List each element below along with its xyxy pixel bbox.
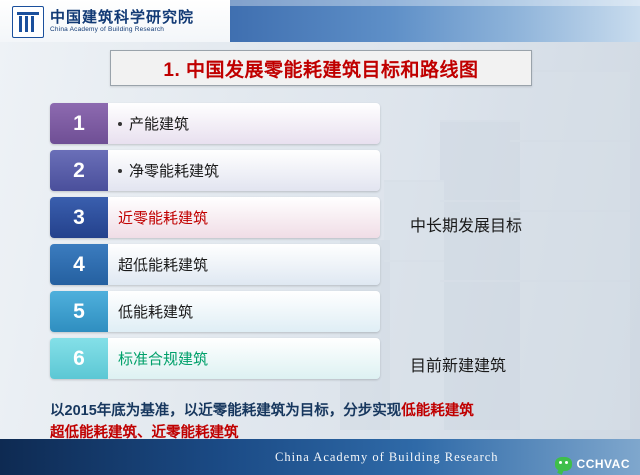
list-item-label: 超低能耗建筑 bbox=[118, 254, 208, 275]
list-item-number: 3 bbox=[50, 197, 108, 238]
list-item-number: 5 bbox=[50, 291, 108, 332]
list-item-number: 2 bbox=[50, 150, 108, 191]
list-item-body: 净零能耗建筑 bbox=[108, 150, 380, 191]
list-item: 3 近零能耗建筑 bbox=[50, 197, 380, 238]
slide-header: 中国建筑科学研究院 China Academy of Building Rese… bbox=[0, 0, 640, 42]
list-item: 1 产能建筑 bbox=[50, 103, 380, 144]
list-item: 6 标准合规建筑 bbox=[50, 338, 380, 379]
organization-name-en: China Academy of Building Research bbox=[50, 27, 194, 34]
annotation-current-new-buildings: 目前新建建筑 bbox=[410, 352, 506, 376]
list-item-label: 标准合规建筑 bbox=[118, 348, 208, 369]
page-title: 1. 中国发展零能耗建筑目标和路线图 bbox=[110, 50, 532, 86]
summary-line1-highlight: 低能耗建筑 bbox=[401, 403, 474, 419]
bullet-icon bbox=[118, 122, 122, 126]
wechat-label: CCHVAC bbox=[577, 457, 630, 471]
list-item-number: 6 bbox=[50, 338, 108, 379]
wechat-account: CCHVAC bbox=[555, 457, 630, 471]
list-item-number: 4 bbox=[50, 244, 108, 285]
list-item-body: 近零能耗建筑 bbox=[108, 197, 380, 238]
list-item-body: 产能建筑 bbox=[108, 103, 380, 144]
list-item: 5 低能耗建筑 bbox=[50, 291, 380, 332]
list-item-label: 近零能耗建筑 bbox=[118, 207, 208, 228]
slide-footer: China Academy of Building Research CCHVA… bbox=[0, 439, 640, 475]
header-blue-stripe bbox=[230, 0, 640, 42]
summary-line1-part1: 以2015年底为基准，以近零能耗建筑为目标，分步实现 bbox=[50, 403, 401, 419]
wechat-icon bbox=[555, 457, 572, 471]
list-item-label: 净零能耗建筑 bbox=[129, 160, 219, 181]
organization-logo: 中国建筑科学研究院 China Academy of Building Rese… bbox=[12, 6, 194, 38]
roadmap-list: 1 产能建筑 2 净零能耗建筑 3 近零能耗建筑 4 超低能耗建筑 bbox=[50, 103, 380, 385]
list-item: 4 超低能耗建筑 bbox=[50, 244, 380, 285]
list-item-body: 低能耗建筑 bbox=[108, 291, 380, 332]
annotation-mid-long-term: 中长期发展目标 bbox=[410, 212, 522, 236]
list-item-label: 低能耗建筑 bbox=[118, 301, 193, 322]
slide: 中国建筑科学研究院 China Academy of Building Rese… bbox=[0, 0, 640, 475]
page-title-text: 1. 中国发展零能耗建筑目标和路线图 bbox=[163, 55, 478, 82]
list-item: 2 净零能耗建筑 bbox=[50, 150, 380, 191]
bullet-icon bbox=[118, 169, 122, 173]
footer-text: China Academy of Building Research bbox=[275, 450, 499, 465]
organization-name-cn: 中国建筑科学研究院 bbox=[50, 10, 194, 26]
list-item-body: 超低能耗建筑 bbox=[108, 244, 380, 285]
list-item-body: 标准合规建筑 bbox=[108, 338, 380, 379]
building-logo-icon bbox=[12, 6, 44, 38]
list-item-number: 1 bbox=[50, 103, 108, 144]
list-item-label: 产能建筑 bbox=[129, 113, 189, 134]
